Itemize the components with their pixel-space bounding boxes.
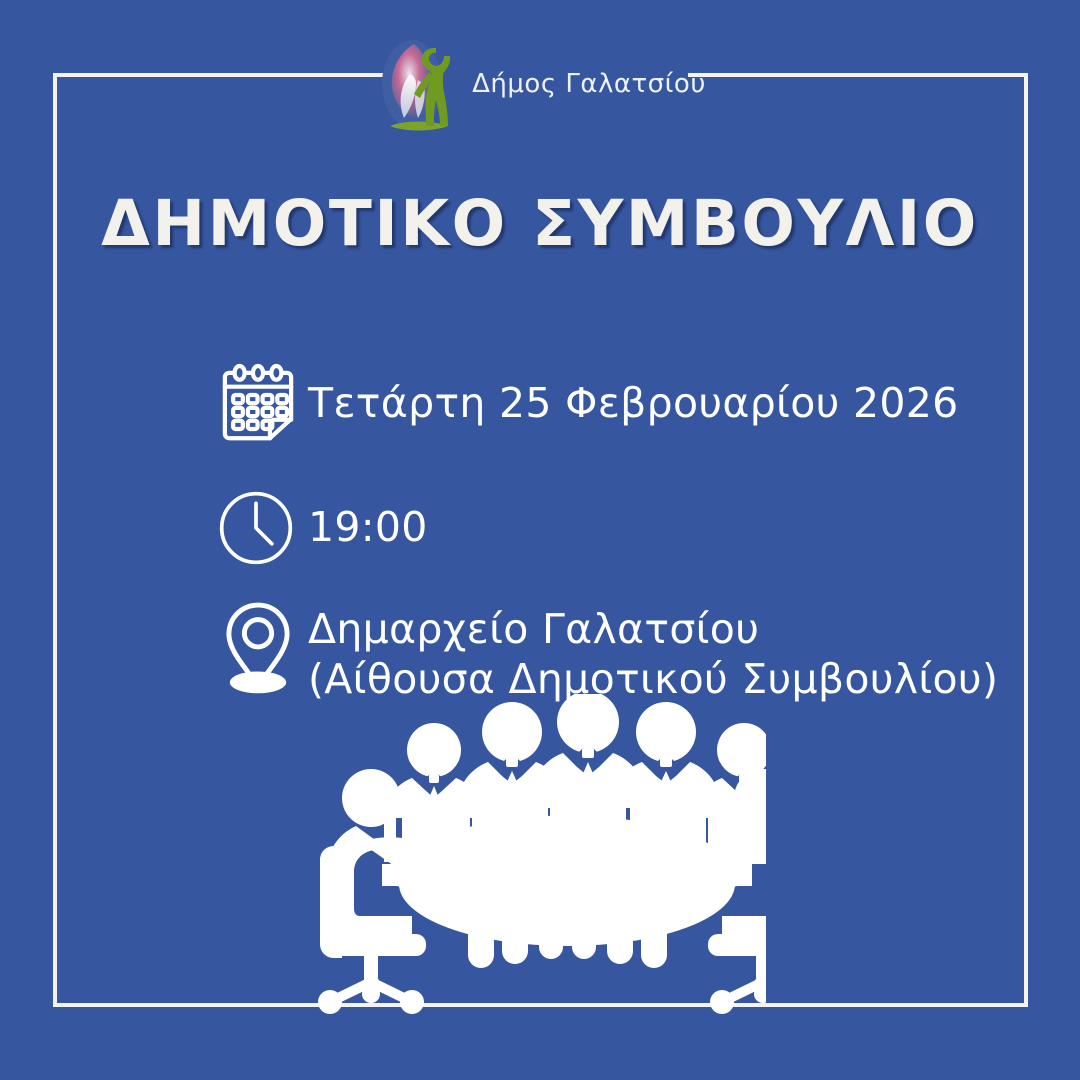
clock-icon [212,480,308,576]
round-table-meeting-icon [316,694,766,1014]
location-pin-icon [212,598,308,694]
brand-name: Δήμος Γαλατσίου [472,71,706,101]
detail-row-time: 19:00 [212,480,1042,576]
page-title: ΔΗΜΟΤΙΚΟ ΣΥΜΒΟΥΛΙΟ [0,190,1080,258]
galatsi-municipality-emblem-icon [374,34,458,138]
event-poster: Δήμος Γαλατσίου ΔΗΜΟΤΙΚΟ ΣΥΜΒΟΥΛΙΟ [0,0,1080,1080]
detail-row-date: Τετάρτη 25 Φεβρουαρίου 2026 [212,358,1042,454]
event-location: Δημαρχείο Γαλατσίου (Αίθουσα Δημοτικού Σ… [308,598,1042,704]
calendar-icon [212,358,308,454]
detail-row-location: Δημαρχείο Γαλατσίου (Αίθουσα Δημοτικού Σ… [212,598,1042,704]
event-time: 19:00 [308,480,1042,552]
event-details: Τετάρτη 25 Φεβρουαρίου 2026 19:00 [212,358,1042,734]
brand-header: Δήμος Γαλατσίου [0,32,1080,140]
event-date: Τετάρτη 25 Φεβρουαρίου 2026 [308,358,1042,428]
